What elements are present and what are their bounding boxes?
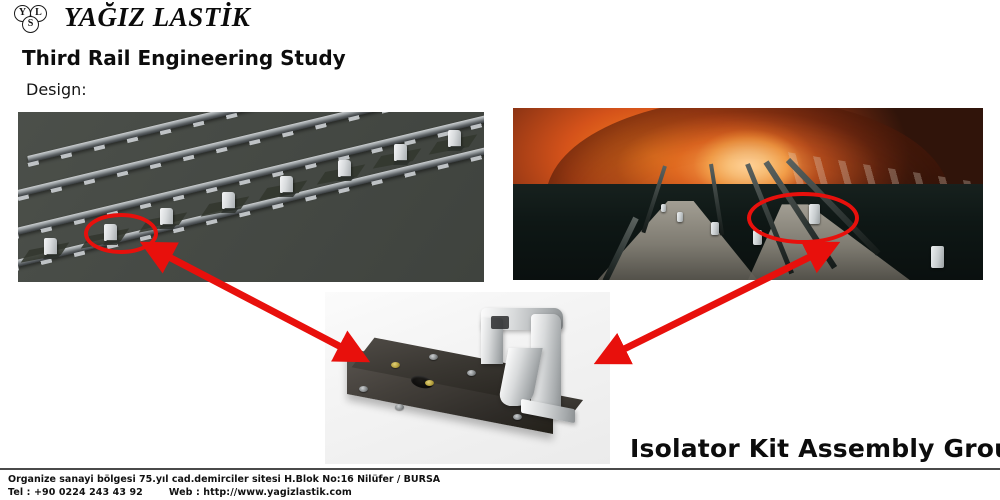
kit-bolt-brass-2 <box>425 380 434 386</box>
footer: Organize sanayi bölgesi 75.yıl cad.demir… <box>8 473 708 499</box>
brand-mark-icon: Y L S <box>8 4 64 34</box>
footer-web-label: Web : <box>169 487 203 498</box>
brand-wordmark: YAĞIZ LASTİK <box>64 2 250 33</box>
isolator-bracket-1 <box>44 238 57 255</box>
isolator-bracket-4 <box>222 192 235 209</box>
tunnel-isolator-bracket-3 <box>711 222 719 235</box>
kit-insulator-bracket <box>477 308 569 416</box>
isolator-bracket-5 <box>280 176 293 193</box>
annotation-arrow-left <box>140 235 380 370</box>
tunnel-isolator-bracket-1 <box>661 204 666 212</box>
brand-letter-s-icon: S <box>22 16 39 33</box>
footer-web-value[interactable]: http://www.yagizlastik.com <box>203 487 352 498</box>
kit-bolt-brass-1 <box>391 362 400 368</box>
kit-bolt-1 <box>429 354 438 360</box>
brand-logo: Y L S YAĞIZ LASTİK <box>6 2 306 38</box>
isolator-bracket-7 <box>394 144 407 161</box>
isolator-bracket-3 <box>160 208 173 225</box>
page-title: Third Rail Engineering Study <box>22 46 346 70</box>
kit-insulator-slot <box>491 316 509 329</box>
annotation-arrow-right <box>590 235 840 370</box>
footer-tel-value: +90 0224 243 43 92 <box>34 487 143 498</box>
kit-bolt-2 <box>467 370 476 376</box>
tunnel-isolator-bracket-5 <box>931 246 944 268</box>
figure-caption-isolator-kit: Isolator Kit Assembly Group <box>630 434 1000 463</box>
tunnel-isolator-bracket-2 <box>677 212 683 222</box>
footer-divider <box>0 468 1000 470</box>
isolator-bracket-8 <box>448 130 461 147</box>
footer-address: Organize sanayi bölgesi 75.yıl cad.demir… <box>8 473 708 486</box>
kit-bolt-3 <box>359 386 368 392</box>
kit-bolt-4 <box>395 404 404 410</box>
footer-contact: Tel : +90 0224 243 43 92Web : http://www… <box>8 486 708 499</box>
footer-tel-label: Tel : <box>8 487 34 498</box>
slide-canvas: Y L S YAĞIZ LASTİK Third Rail Engineerin… <box>0 0 1000 500</box>
design-section-label: Design: <box>26 80 87 99</box>
isolator-bracket-6 <box>338 160 351 177</box>
